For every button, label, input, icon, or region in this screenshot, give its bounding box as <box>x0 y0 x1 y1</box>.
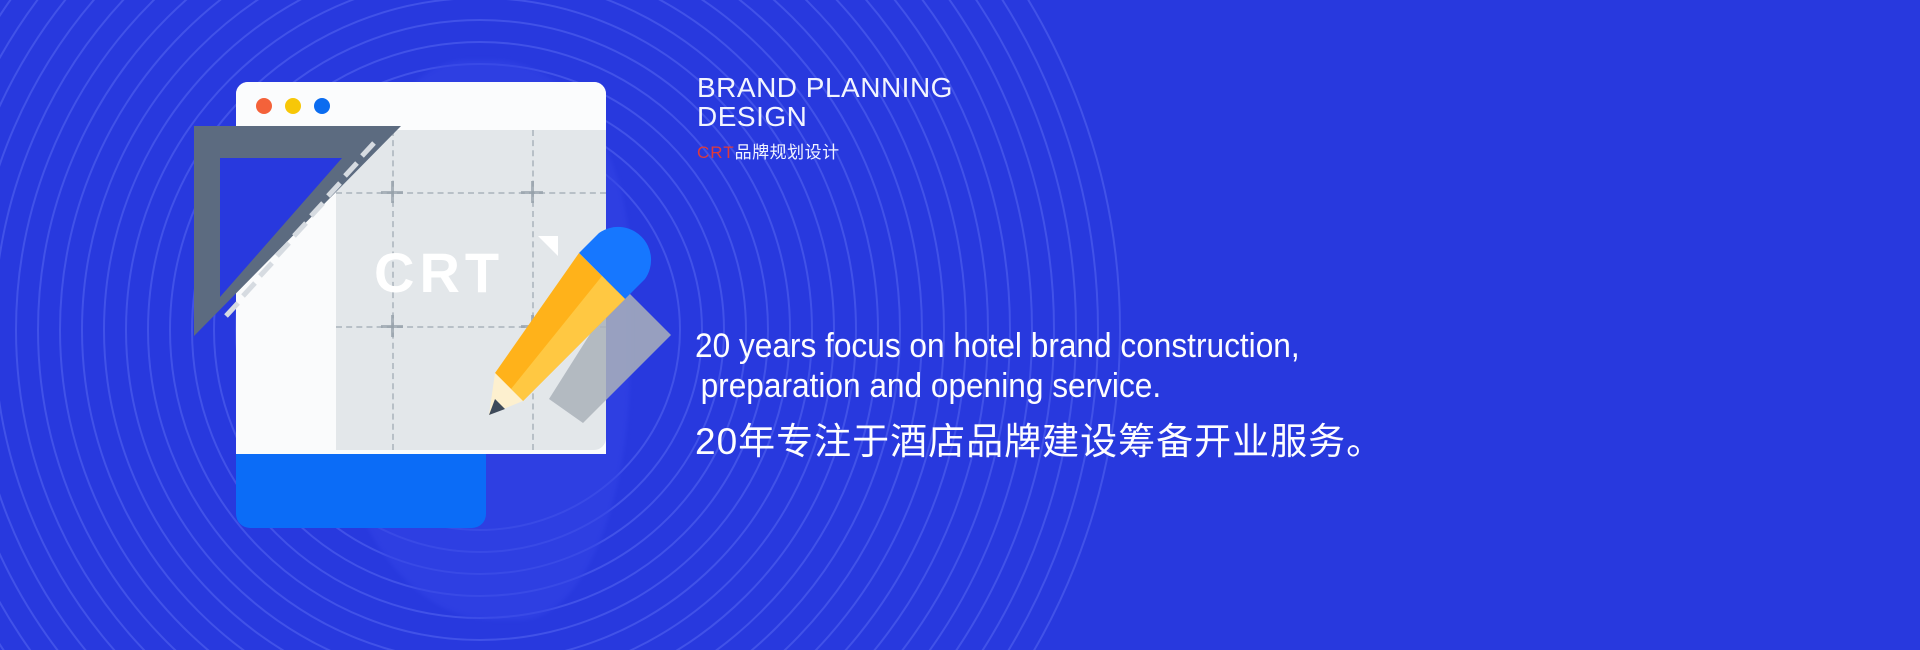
maximize-dot[interactable] <box>314 98 330 114</box>
grid-crosshair-icon <box>521 181 543 203</box>
tagline-en-line-2: preparation and opening service. <box>695 366 1336 406</box>
promotional-banner: CRT <box>0 0 1920 650</box>
headline-subtitle: CRT品牌规划设计 <box>697 138 953 163</box>
tagline-cn-line: 20年专注于酒店品牌建设筹备开业服务。 <box>695 420 1384 464</box>
tagline-en-line-1: 20 years focus on hotel brand constructi… <box>695 326 1336 366</box>
tagline-block: 20 years focus on hotel brand constructi… <box>695 326 1384 464</box>
illustration-group: CRT <box>190 78 690 558</box>
headline-line-2: DESIGN <box>697 102 953 131</box>
pencil-icon <box>475 223 675 433</box>
window-control-dots <box>256 98 330 114</box>
headline-block: BRAND PLANNING DESIGN CRT品牌规划设计 <box>697 73 953 163</box>
headline-line-1: BRAND PLANNING <box>697 73 953 102</box>
close-dot[interactable] <box>256 98 272 114</box>
brand-mark-crt: CRT <box>697 143 735 162</box>
triangle-ruler-icon <box>190 122 405 340</box>
minimize-dot[interactable] <box>285 98 301 114</box>
headline-subtitle-cn: 品牌规划设计 <box>735 143 840 162</box>
